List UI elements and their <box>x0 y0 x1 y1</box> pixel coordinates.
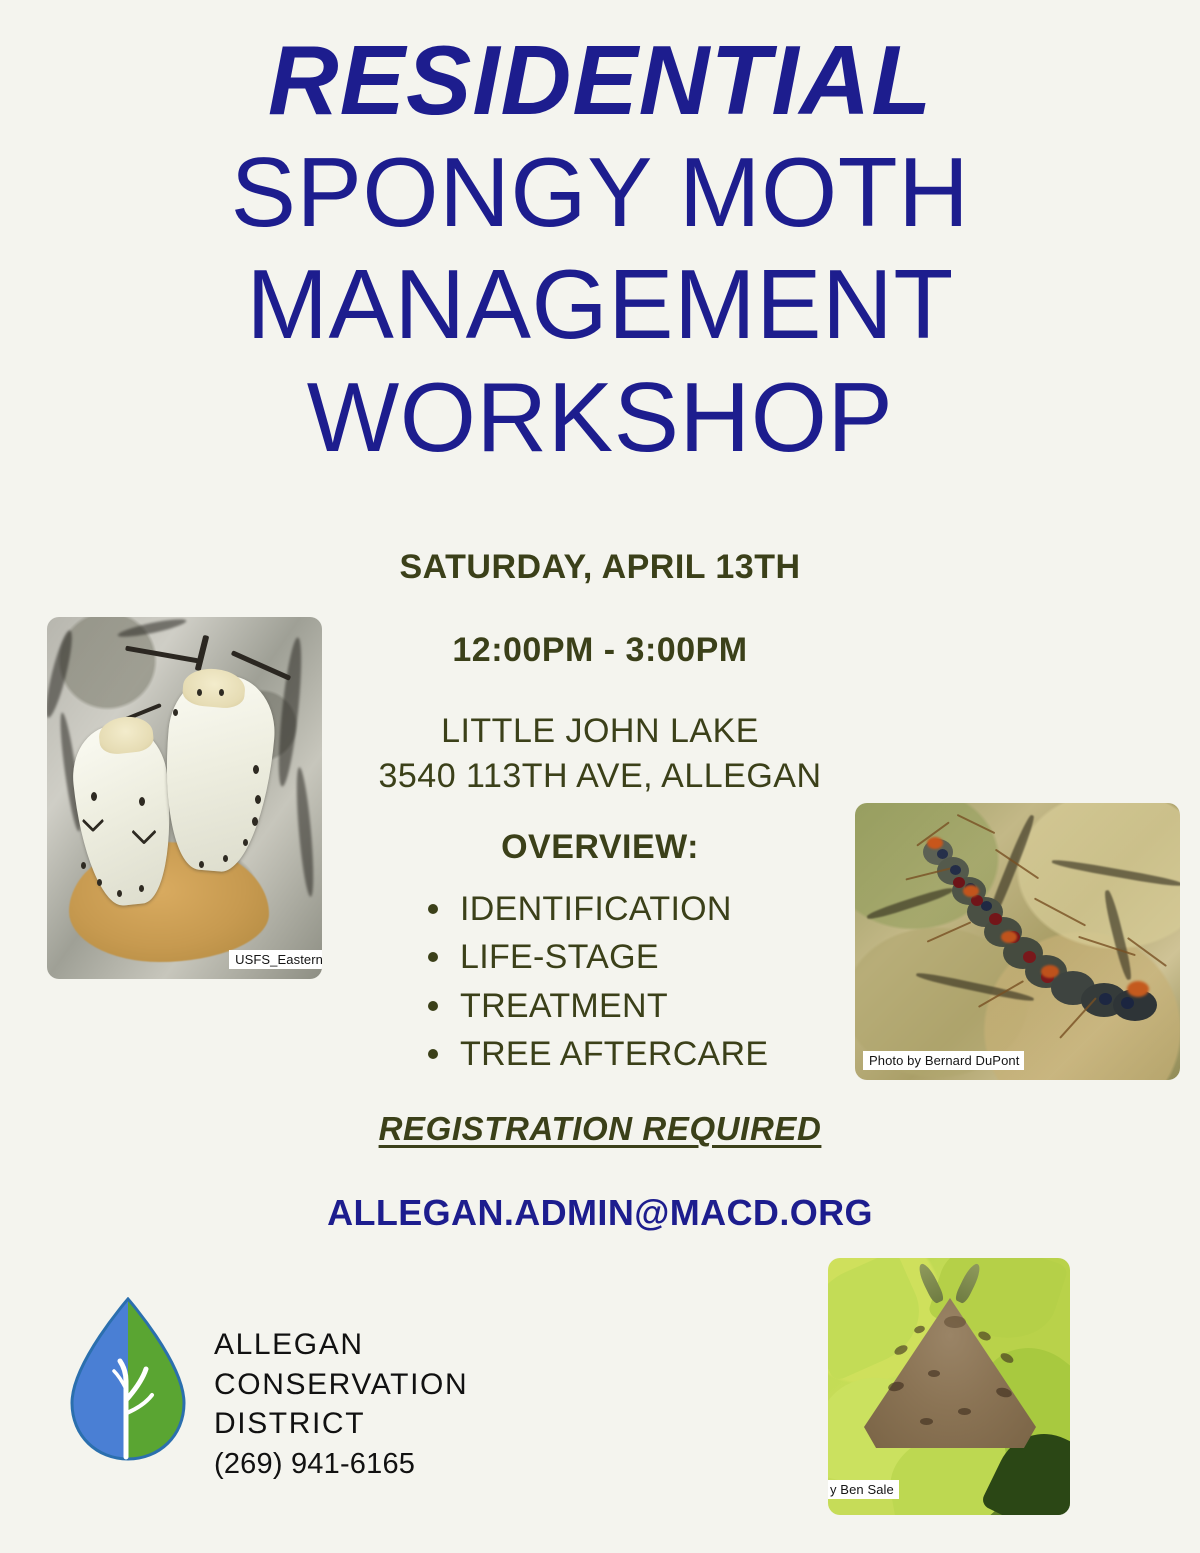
spongy-moth-pair-photo: USFS_Eastern <box>47 617 322 979</box>
brown-moth-photo: y Ben Sale <box>828 1258 1070 1515</box>
headline-line-1: SPONGY MOTH <box>0 136 1200 249</box>
bullet-icon <box>428 1049 438 1059</box>
overview-list-item: IDENTIFICATION <box>420 885 850 933</box>
overview-list-item: LIFE-STAGE <box>420 933 850 981</box>
org-name-line-3: DISTRICT <box>214 1404 468 1444</box>
overview-list: IDENTIFICATION LIFE-STAGE TREATMENT TREE… <box>420 885 850 1078</box>
overview-item-label: LIFE-STAGE <box>460 938 659 976</box>
spongy-moth-caterpillar-photo: Photo by Bernard DuPont <box>855 803 1180 1080</box>
water-drop-leaf-logo-icon <box>62 1297 194 1463</box>
registration-email-link[interactable]: ALLEGAN.ADMIN@MACD.ORG <box>0 1192 1200 1234</box>
overview-list-item: TREATMENT <box>420 982 850 1030</box>
event-date: SATURDAY, APRIL 13TH <box>0 548 1200 587</box>
bullet-icon <box>428 1001 438 1011</box>
bullet-icon <box>428 904 438 914</box>
org-name-line-2: CONSERVATION <box>214 1365 468 1405</box>
headline-line-2: MANAGEMENT <box>0 248 1200 361</box>
photo-caption: Photo by Bernard DuPont <box>863 1051 1024 1070</box>
bullet-icon <box>428 952 438 962</box>
photo-caption: y Ben Sale <box>828 1480 899 1499</box>
headline-kicker: RESIDENTIAL <box>0 26 1200 136</box>
overview-item-label: TREE AFTERCARE <box>460 1035 768 1073</box>
org-phone-number[interactable]: (269) 941-6165 <box>214 1448 468 1481</box>
overview-item-label: IDENTIFICATION <box>460 890 732 928</box>
photo-caption: USFS_Eastern <box>229 950 322 969</box>
headline-line-3: WORKSHOP <box>0 361 1200 474</box>
organization-name-block: ALLEGAN CONSERVATION DISTRICT (269) 941-… <box>214 1325 468 1481</box>
org-name-line-1: ALLEGAN <box>214 1325 468 1365</box>
overview-list-item: TREE AFTERCARE <box>420 1030 850 1078</box>
organization-logo-block: ALLEGAN CONSERVATION DISTRICT (269) 941-… <box>62 1297 542 1527</box>
registration-required-notice: REGISTRATION REQUIRED <box>0 1110 1200 1148</box>
overview-item-label: TREATMENT <box>460 987 668 1025</box>
poster-canvas: RESIDENTIAL SPONGY MOTH MANAGEMENT WORKS… <box>0 0 1200 1553</box>
headline-block: RESIDENTIAL SPONGY MOTH MANAGEMENT WORKS… <box>0 26 1200 474</box>
